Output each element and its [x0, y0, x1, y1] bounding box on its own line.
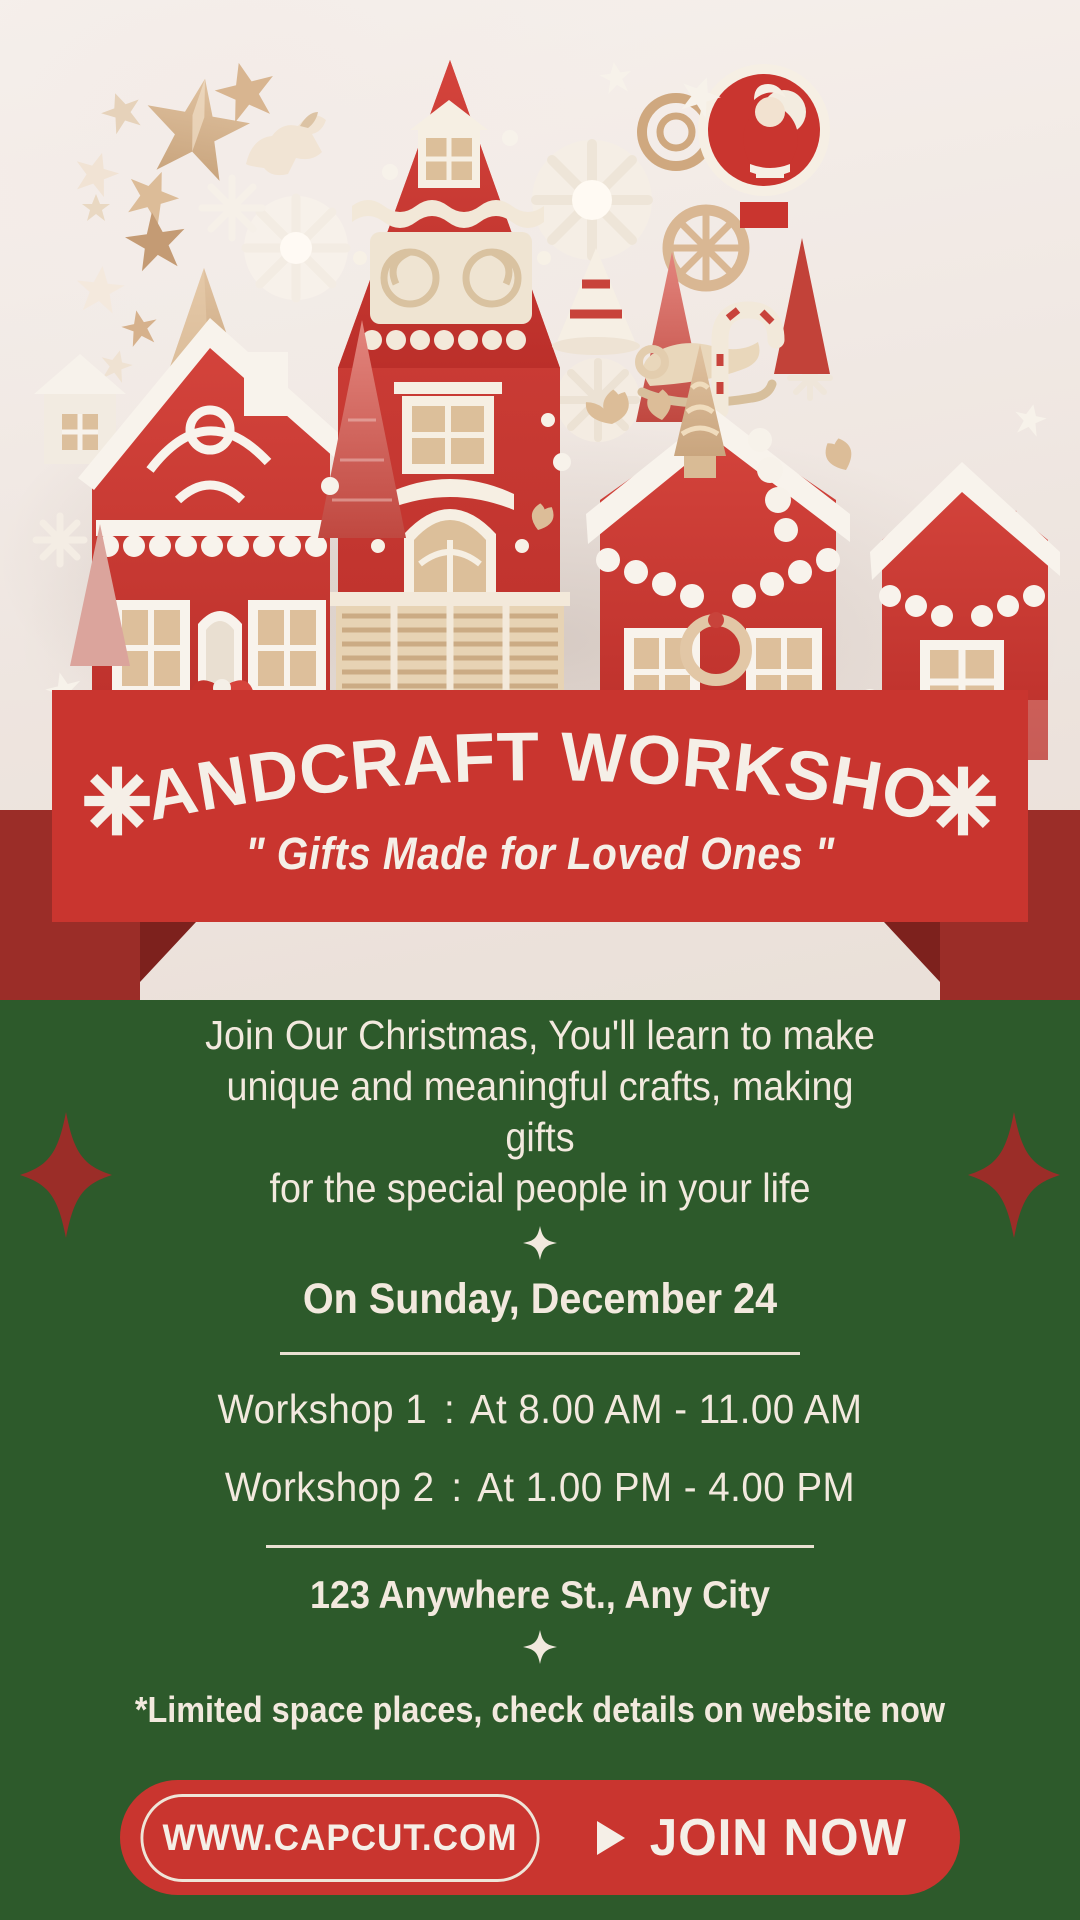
santa-in-round-frame: [698, 64, 830, 228]
snowflake-asterisk-icon-right: [924, 762, 1002, 840]
website-url-button[interactable]: WWW.CAPCUT.COM: [141, 1794, 540, 1882]
intro-paragraph: Join Our Christmas, You'll learn to make…: [43, 1010, 1037, 1214]
sparkle-diamond-icon-2: [523, 1630, 557, 1664]
content-block: Join Our Christmas, You'll learn to make…: [0, 1010, 1080, 1731]
paper-reindeer: [246, 112, 326, 175]
intro-line-1: Join Our Christmas, You'll learn to make: [200, 1010, 881, 1061]
limited-space-note: *Limited space places, check details on …: [54, 1689, 1026, 1731]
title-textpath: HANDCRAFT WORKSHOP: [59, 700, 944, 836]
sparkle-diamond-icon-1: [523, 1226, 557, 1260]
kraft-stars-cluster: [69, 56, 281, 385]
page-title: HANDCRAFT WORKSHOP: [52, 700, 1028, 840]
join-now-button[interactable]: JOIN NOW: [550, 1808, 960, 1868]
intro-line-3: for the special people in your life: [200, 1163, 881, 1214]
poster-root: HANDCRAFT WORKSHOP " Gifts Made for Love…: [0, 0, 1080, 1920]
cream-cone-tree: [552, 248, 640, 355]
snowflake-asterisk-icon-left: [78, 762, 156, 840]
workshop-row-1: Workshop 1 : At 8.00 AM - 11.00 AM: [32, 1386, 1047, 1433]
workshop-2-separator: :: [446, 1464, 468, 1510]
event-address: 123 Anywhere St., Any City: [43, 1574, 1037, 1618]
event-date: On Sunday, December 24: [43, 1275, 1037, 1324]
workshop-2-label: Workshop 2: [225, 1464, 435, 1510]
divider-rule-top: [280, 1352, 800, 1355]
intro-line-2: unique and meaningful crafts, making gif…: [200, 1061, 881, 1163]
svg-text:HANDCRAFT WORKSHOP: HANDCRAFT WORKSHOP: [59, 700, 944, 836]
play-triangle-icon: [597, 1821, 625, 1855]
join-now-label: JOIN NOW: [649, 1808, 906, 1868]
workshop-1-time: At 8.00 AM - 11.00 AM: [470, 1386, 863, 1432]
page-subtitle: " Gifts Made for Loved Ones ": [101, 828, 979, 880]
divider-rule-bottom: [266, 1545, 814, 1548]
workshop-1-separator: :: [438, 1386, 460, 1432]
workshop-1-label: Workshop 1: [218, 1386, 428, 1432]
cta-bar[interactable]: WWW.CAPCUT.COM JOIN NOW: [120, 1780, 960, 1895]
workshop-row-2: Workshop 2 : At 1.00 PM - 4.00 PM: [32, 1464, 1047, 1511]
workshop-2-time: At 1.00 PM - 4.00 PM: [477, 1464, 855, 1510]
